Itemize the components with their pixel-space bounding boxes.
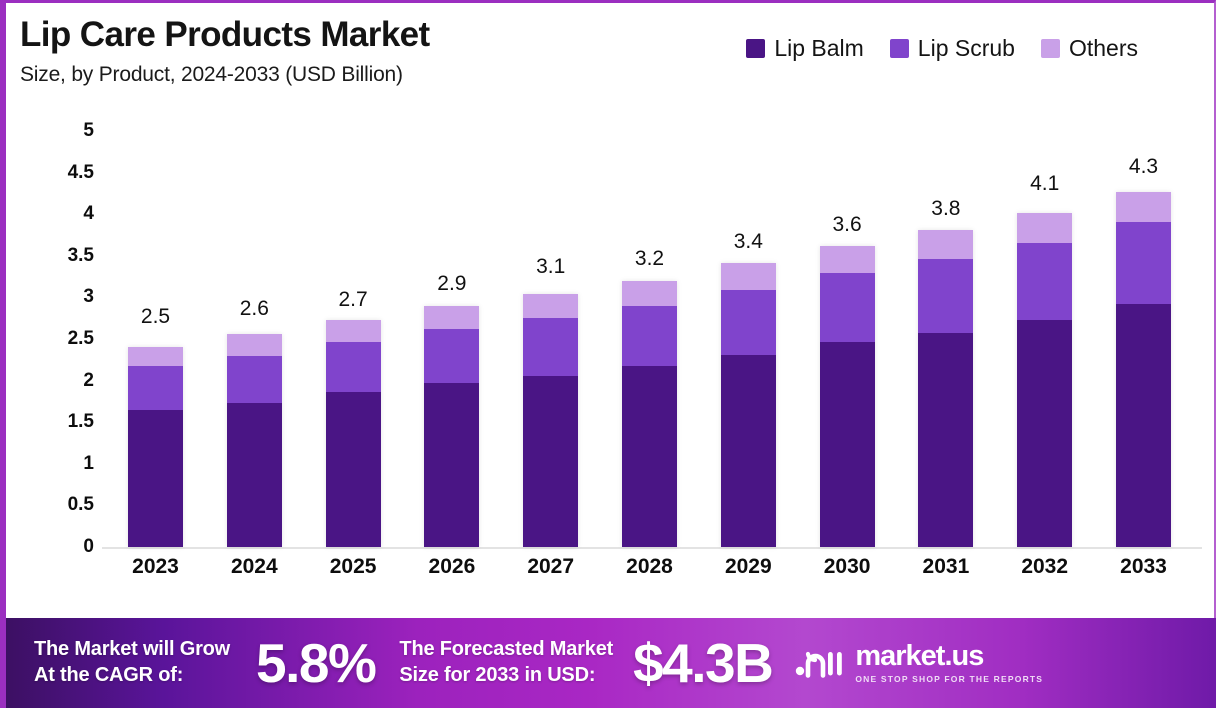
bar-segment-others[interactable] (1116, 192, 1171, 222)
stacked-bar[interactable] (820, 246, 875, 547)
page-title: Lip Care Products Market (20, 17, 430, 54)
x-axis-tick: 2024 (231, 555, 278, 579)
x-axis-tick: 2028 (626, 555, 673, 579)
bar-segment-others[interactable] (622, 281, 677, 306)
legend-label: Others (1069, 35, 1138, 62)
bar-group[interactable]: 2.9 (424, 115, 479, 547)
bar-value-label: 2.9 (437, 272, 466, 296)
forecast-caption: The Forecasted Market Size for 2033 in U… (399, 637, 613, 688)
x-axis-tick: 2029 (725, 555, 772, 579)
bar-segment-lip-balm[interactable] (820, 342, 875, 547)
footer-banner: The Market will Grow At the CAGR of: 5.8… (6, 618, 1216, 708)
x-axis-tick: 2033 (1120, 555, 1167, 579)
bar-value-label: 2.5 (141, 305, 170, 329)
bar-segment-lip-scrub[interactable] (1017, 243, 1072, 320)
bar-value-label: 3.4 (734, 230, 763, 254)
infographic-root: Lip Care Products Market Size, by Produc… (0, 0, 1216, 708)
legend-label: Lip Scrub (918, 35, 1015, 62)
cagr-caption: The Market will Grow At the CAGR of: (34, 637, 230, 688)
bar-segment-lip-balm[interactable] (227, 403, 282, 547)
bar-segment-lip-balm[interactable] (1116, 304, 1171, 547)
bar-segment-lip-scrub[interactable] (326, 342, 381, 393)
forecast-caption-line2: Size for 2033 in USD: (399, 663, 613, 689)
brand-logo[interactable]: market.us ONE STOP SHOP FOR THE REPORTS (794, 642, 1043, 684)
bar-value-label: 4.3 (1129, 155, 1158, 179)
bar-group[interactable]: 2.7 (326, 115, 381, 547)
bar-segment-others[interactable] (918, 230, 973, 259)
bar-value-label: 3.6 (832, 213, 861, 237)
x-axis-baseline (102, 547, 1202, 549)
bar-group[interactable]: 4.1 (1017, 115, 1072, 547)
bar-group[interactable]: 3.8 (918, 115, 973, 547)
cagr-caption-line2: At the CAGR of: (34, 663, 230, 689)
chart-legend: Lip BalmLip ScrubOthers (746, 35, 1138, 62)
bar-value-label: 2.7 (338, 288, 367, 312)
stacked-bar[interactable] (1017, 213, 1072, 547)
bar-segment-others[interactable] (227, 334, 282, 356)
logo-wordmark: market.us (855, 642, 1043, 671)
bar-segment-lip-balm[interactable] (918, 333, 973, 547)
bar-series-container: 2.52.62.72.93.13.23.43.63.84.14.3 (6, 115, 1216, 547)
bar-value-label: 4.1 (1030, 172, 1059, 196)
bar-segment-lip-balm[interactable] (1017, 320, 1072, 547)
stacked-bar[interactable] (918, 230, 973, 547)
x-axis-tick: 2027 (527, 555, 574, 579)
market-us-logo-icon (794, 646, 846, 680)
legend-label: Lip Balm (774, 35, 863, 62)
legend-item-lip-balm[interactable]: Lip Balm (746, 35, 863, 62)
chart-header: Lip Care Products Market Size, by Produc… (6, 3, 1216, 115)
bar-segment-lip-scrub[interactable] (523, 318, 578, 375)
stacked-bar[interactable] (128, 347, 183, 547)
stacked-bar[interactable] (523, 294, 578, 547)
bar-group[interactable]: 4.3 (1116, 115, 1171, 547)
bar-segment-lip-scrub[interactable] (128, 366, 183, 409)
bar-group[interactable]: 3.6 (820, 115, 875, 547)
logo-text: market.us ONE STOP SHOP FOR THE REPORTS (855, 642, 1043, 684)
cagr-value: 5.8% (256, 631, 375, 695)
bar-value-label: 2.6 (240, 297, 269, 321)
bar-segment-lip-balm[interactable] (721, 355, 776, 547)
bar-segment-lip-balm[interactable] (424, 383, 479, 547)
bar-segment-lip-balm[interactable] (523, 376, 578, 547)
x-axis-tick: 2023 (132, 555, 179, 579)
bar-segment-others[interactable] (326, 320, 381, 342)
title-block: Lip Care Products Market Size, by Produc… (20, 17, 430, 87)
bar-group[interactable]: 2.5 (128, 115, 183, 547)
x-axis-tick: 2030 (824, 555, 871, 579)
bar-group[interactable]: 3.1 (523, 115, 578, 547)
bar-segment-lip-scrub[interactable] (424, 329, 479, 383)
forecast-value: $4.3B (633, 631, 772, 695)
bar-value-label: 3.8 (931, 197, 960, 221)
cagr-caption-line1: The Market will Grow (34, 637, 230, 663)
x-axis: 2023202420252026202720282029203020312032… (6, 555, 1216, 595)
bar-segment-others[interactable] (1017, 213, 1072, 243)
bar-segment-others[interactable] (721, 263, 776, 290)
stacked-bar[interactable] (721, 263, 776, 547)
x-axis-tick: 2025 (330, 555, 377, 579)
bar-segment-others[interactable] (523, 294, 578, 318)
legend-item-lip-scrub[interactable]: Lip Scrub (890, 35, 1015, 62)
bar-segment-lip-scrub[interactable] (721, 290, 776, 355)
bar-segment-lip-balm[interactable] (326, 392, 381, 547)
stacked-bar[interactable] (622, 281, 677, 547)
forecast-caption-line1: The Forecasted Market (399, 637, 613, 663)
bar-group[interactable]: 2.6 (227, 115, 282, 547)
bar-segment-lip-scrub[interactable] (227, 356, 282, 403)
legend-swatch-icon (890, 39, 909, 58)
legend-item-others[interactable]: Others (1041, 35, 1138, 62)
stacked-bar[interactable] (424, 306, 479, 547)
bar-segment-lip-balm[interactable] (128, 410, 183, 547)
stacked-bar[interactable] (1116, 192, 1171, 547)
logo-tagline: ONE STOP SHOP FOR THE REPORTS (855, 674, 1043, 684)
chart-plot-area: 00.511.522.533.544.55 2.52.62.72.93.13.2… (6, 115, 1216, 608)
bar-value-label: 3.2 (635, 247, 664, 271)
stacked-bar[interactable] (227, 334, 282, 547)
bar-segment-lip-scrub[interactable] (1116, 222, 1171, 304)
bar-segment-others[interactable] (424, 306, 479, 329)
bar-value-label: 3.1 (536, 255, 565, 279)
x-axis-tick: 2032 (1021, 555, 1068, 579)
bar-segment-others[interactable] (128, 347, 183, 367)
bar-segment-others[interactable] (820, 246, 875, 273)
stacked-bar[interactable] (326, 320, 381, 547)
bar-segment-lip-scrub[interactable] (622, 306, 677, 367)
x-axis-tick: 2031 (923, 555, 970, 579)
legend-swatch-icon (746, 39, 765, 58)
legend-swatch-icon (1041, 39, 1060, 58)
bar-segment-lip-balm[interactable] (622, 366, 677, 547)
bar-group[interactable]: 3.2 (622, 115, 677, 547)
bar-segment-lip-scrub[interactable] (918, 259, 973, 333)
bar-segment-lip-scrub[interactable] (820, 273, 875, 342)
x-axis-tick: 2026 (429, 555, 476, 579)
bar-group[interactable]: 3.4 (721, 115, 776, 547)
chart-subtitle: Size, by Product, 2024-2033 (USD Billion… (20, 63, 430, 87)
